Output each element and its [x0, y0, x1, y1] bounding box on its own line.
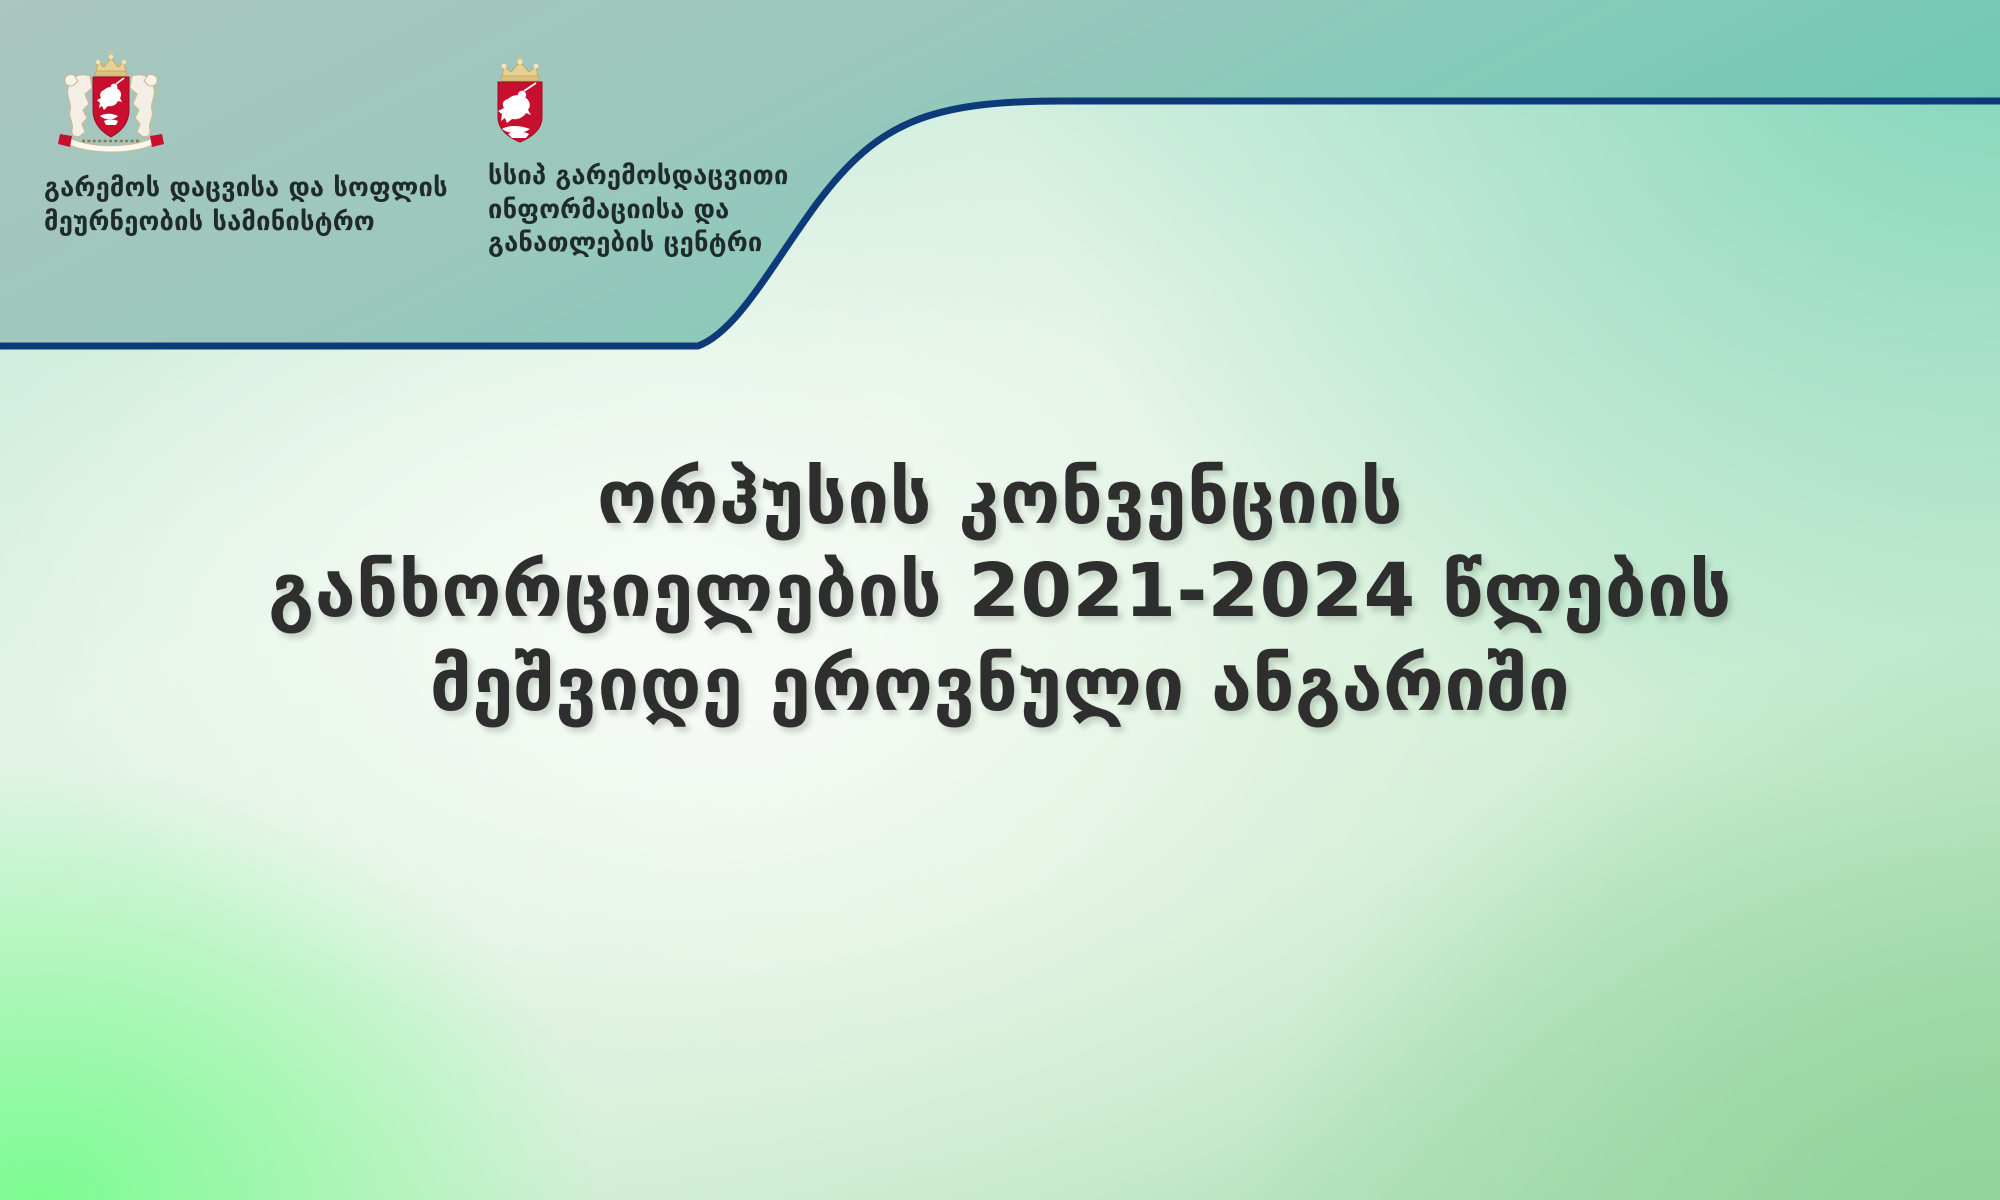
- title-area: ორჰუსის კონვენციის განხორციელების 2021-2…: [0, 0, 2000, 1200]
- report-cover-page: გარემოს დაცვისა და სოფლის მეურნეობის სამ…: [0, 0, 2000, 1200]
- title-line-1: ორჰუსის კონვენციის: [268, 452, 1732, 545]
- title-line-2: განხორციელების 2021-2024 წლების: [268, 545, 1732, 638]
- title-line-3: მეშვიდე ეროვნული ანგარიში: [268, 639, 1732, 732]
- report-title: ორჰუსის კონვენციის განხორციელების 2021-2…: [268, 452, 1732, 732]
